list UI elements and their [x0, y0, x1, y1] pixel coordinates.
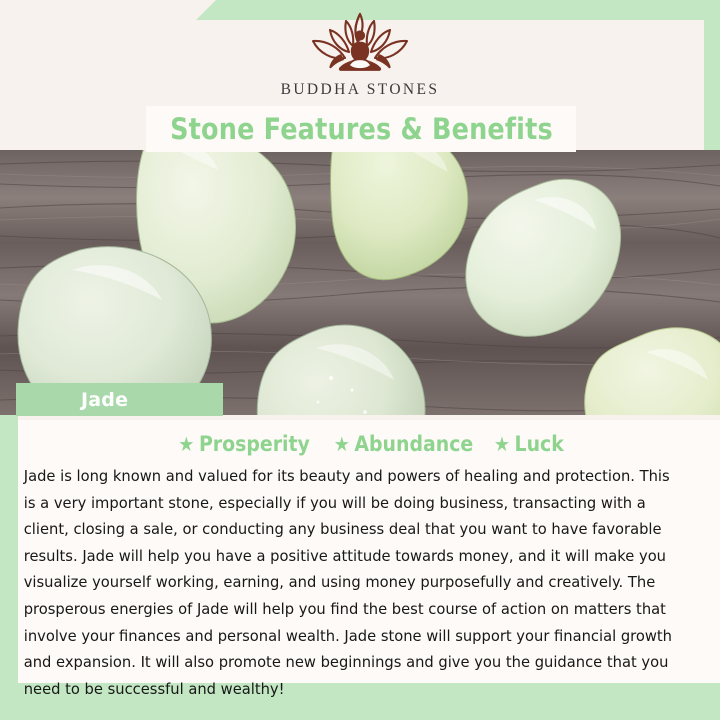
- benefit-item-prosperity: ★ Prosperity: [178, 432, 310, 456]
- benefit-label: Luck: [514, 432, 563, 456]
- star-icon: ★: [494, 434, 510, 454]
- benefits-row: ★ Prosperity ★ Abundance ★ Luck: [18, 420, 720, 459]
- jade-stones-photo: [0, 150, 720, 415]
- lotus-meditation-icon: [285, 8, 435, 80]
- title-banner: Stone Features & Benefits: [146, 106, 576, 152]
- benefit-label: Abundance: [354, 432, 473, 456]
- stone-name-bar: Jade: [16, 383, 223, 416]
- stone-name-label: Jade: [81, 389, 128, 411]
- brand-logo: BUDDHA STONES: [0, 8, 720, 108]
- brand-name: BUDDHA STONES: [281, 81, 440, 99]
- green-left-accent-lower: [0, 385, 18, 685]
- page-title: Stone Features & Benefits: [170, 112, 553, 146]
- benefit-label: Prosperity: [199, 432, 310, 456]
- content-panel: ★ Prosperity ★ Abundance ★ Luck Jade is …: [18, 420, 720, 683]
- star-icon: ★: [333, 434, 349, 454]
- stone-features-card: BUDDHA STONES Stone Features & Benefits: [0, 0, 720, 720]
- stone-description: Jade is long known and valued for its be…: [18, 463, 696, 702]
- benefit-item-luck: ★ Luck: [494, 432, 564, 456]
- benefit-item-abundance: ★ Abundance: [333, 432, 472, 456]
- star-icon: ★: [178, 434, 194, 454]
- jade-stones-illustration: [0, 150, 720, 415]
